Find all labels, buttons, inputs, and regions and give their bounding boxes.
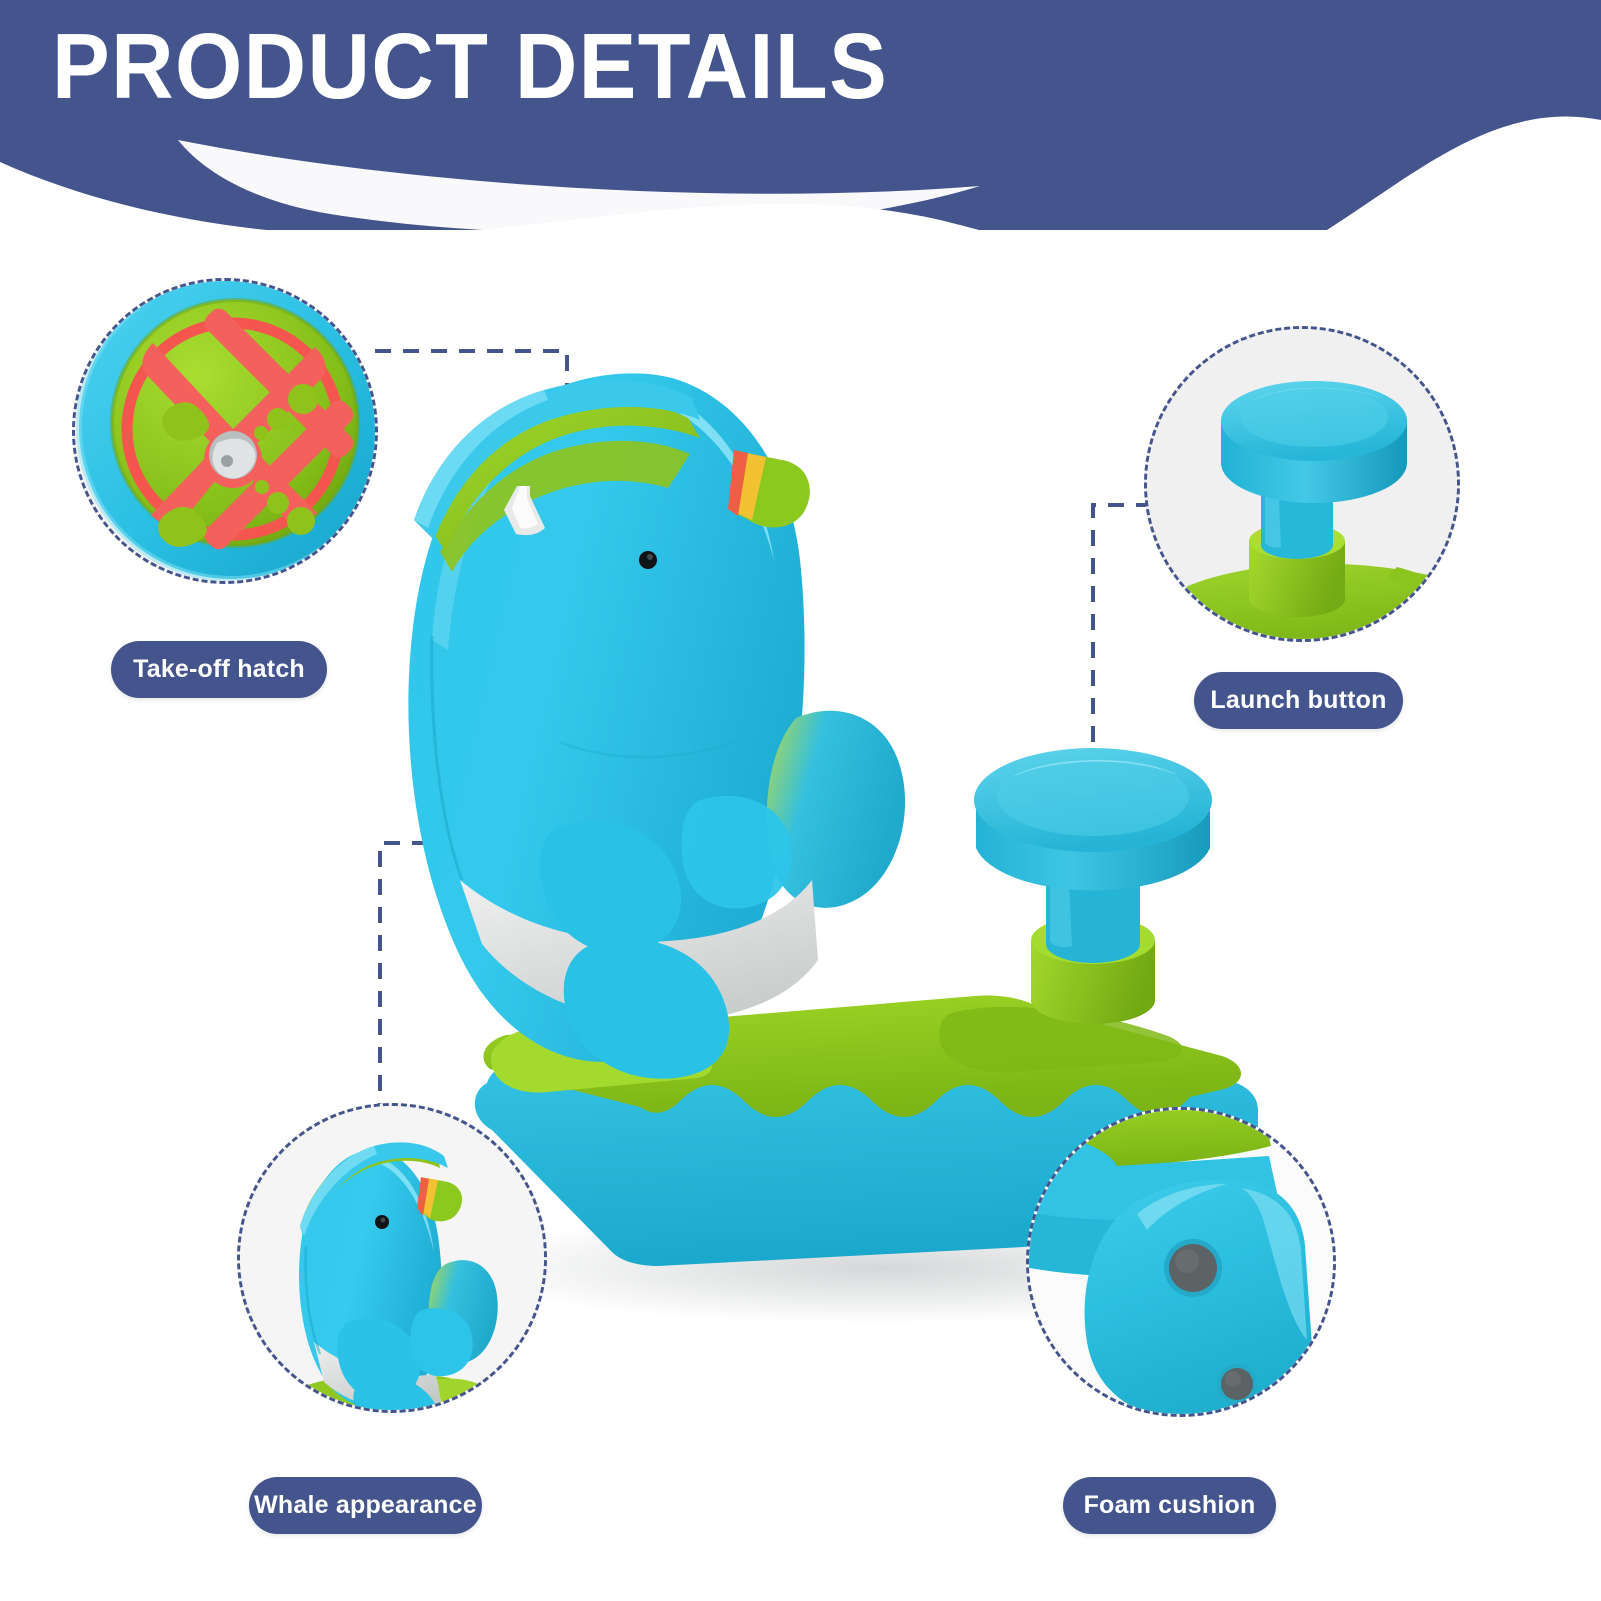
foam-cushion-closeup xyxy=(1029,1110,1336,1417)
callout-launch-button[interactable] xyxy=(1144,326,1460,642)
callout-take-off-hatch[interactable] xyxy=(72,278,378,584)
callout-foam-cushion[interactable] xyxy=(1026,1107,1336,1417)
label-launch-button[interactable]: Launch button xyxy=(1194,672,1403,729)
infographic-canvas: PRODUCT DETAILS xyxy=(0,0,1601,1601)
label-take-off-hatch[interactable]: Take-off hatch xyxy=(111,641,327,698)
whale-side-fin xyxy=(767,711,905,908)
whale-appearance-closeup xyxy=(240,1106,547,1413)
main-product-illustration xyxy=(0,0,1601,1601)
callout-whale-appearance[interactable] xyxy=(237,1103,547,1413)
launch-button[interactable] xyxy=(974,748,1212,1024)
propeller-illustration xyxy=(75,281,378,584)
whale-eye xyxy=(639,551,657,569)
label-foam-cushion[interactable]: Foam cushion xyxy=(1063,1477,1276,1534)
launch-button-closeup xyxy=(1147,329,1460,642)
label-whale-appearance[interactable]: Whale appearance xyxy=(249,1477,482,1534)
whale-body xyxy=(408,373,905,1078)
